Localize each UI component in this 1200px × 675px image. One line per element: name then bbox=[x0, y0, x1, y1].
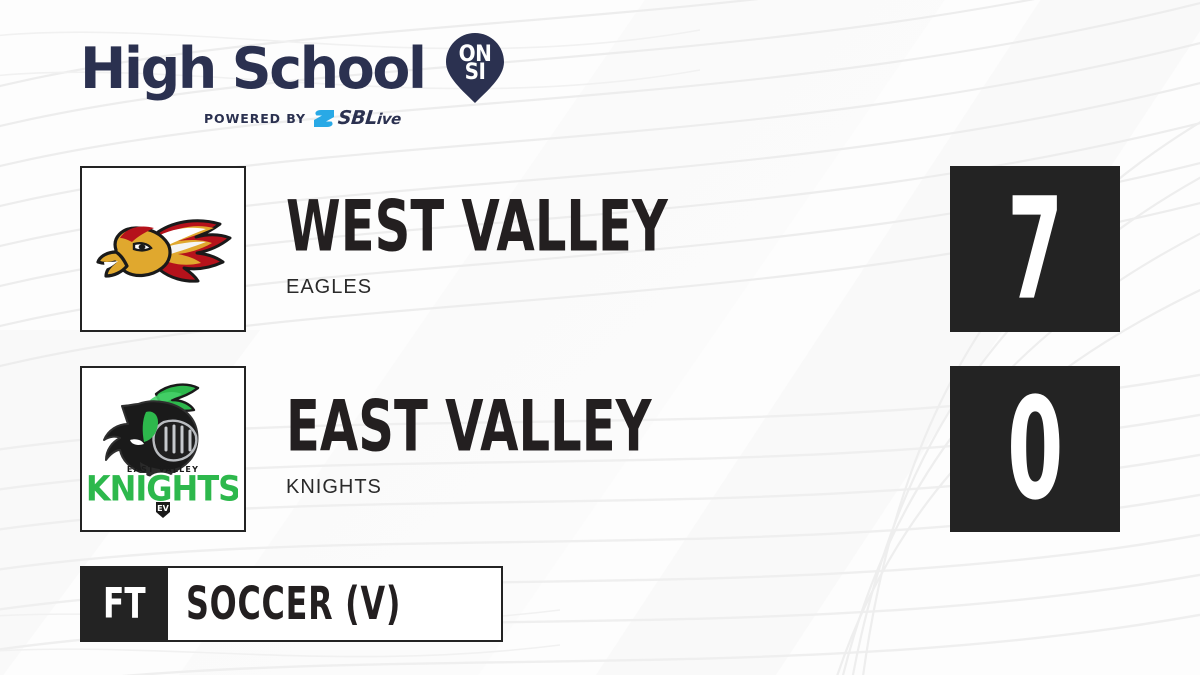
status-badge: FT bbox=[80, 566, 168, 642]
logo-ev-badge: EV bbox=[157, 504, 169, 513]
east-valley-knights-logo: EAST VALLEY KNIGHTS EV bbox=[88, 374, 238, 524]
sblive-wordmark: SBLive bbox=[337, 107, 402, 129]
team-info: EAST VALLEY KNIGHTS bbox=[286, 390, 936, 499]
team-score-box: 0 bbox=[950, 366, 1120, 532]
team-mascot: KNIGHTS bbox=[286, 476, 936, 499]
west-valley-eagles-logo bbox=[88, 174, 238, 324]
team-logo-box bbox=[80, 166, 246, 332]
team-score: 0 bbox=[1007, 379, 1063, 519]
game-status-bar: FT SOCCER (V) bbox=[80, 566, 503, 642]
team-row: WEST VALLEY EAGLES 7 bbox=[80, 166, 1120, 334]
sblive-logo: SBLive bbox=[313, 107, 401, 129]
team-info: WEST VALLEY EAGLES bbox=[286, 190, 936, 299]
pin-bottom-label: SI bbox=[465, 59, 486, 85]
scoreboard-graphic: High School ON SI POWERED BY SBLive bbox=[0, 0, 1200, 675]
team-logo-box: EAST VALLEY KNIGHTS EV bbox=[80, 366, 246, 532]
sblive-s-mark-icon bbox=[313, 109, 335, 128]
game-type-badge: SOCCER (V) bbox=[168, 566, 503, 642]
team-name: EAST VALLEY bbox=[286, 390, 806, 463]
team-name: WEST VALLEY bbox=[286, 190, 806, 263]
team-row: EAST VALLEY KNIGHTS EV EAST VALLEY KNIGH… bbox=[80, 366, 1120, 534]
brand-header: High School ON SI POWERED BY SBLive bbox=[80, 36, 580, 136]
powered-by-label: POWERED BY bbox=[204, 111, 306, 126]
game-type-label: SOCCER (V) bbox=[186, 578, 401, 631]
team-mascot: EAGLES bbox=[286, 276, 936, 299]
status-period-label: FT bbox=[103, 580, 146, 628]
location-pin-icon: ON SI bbox=[443, 31, 507, 105]
team-score: 7 bbox=[1007, 179, 1063, 319]
page-title: High School bbox=[80, 38, 425, 100]
team-score-box: 7 bbox=[950, 166, 1120, 332]
